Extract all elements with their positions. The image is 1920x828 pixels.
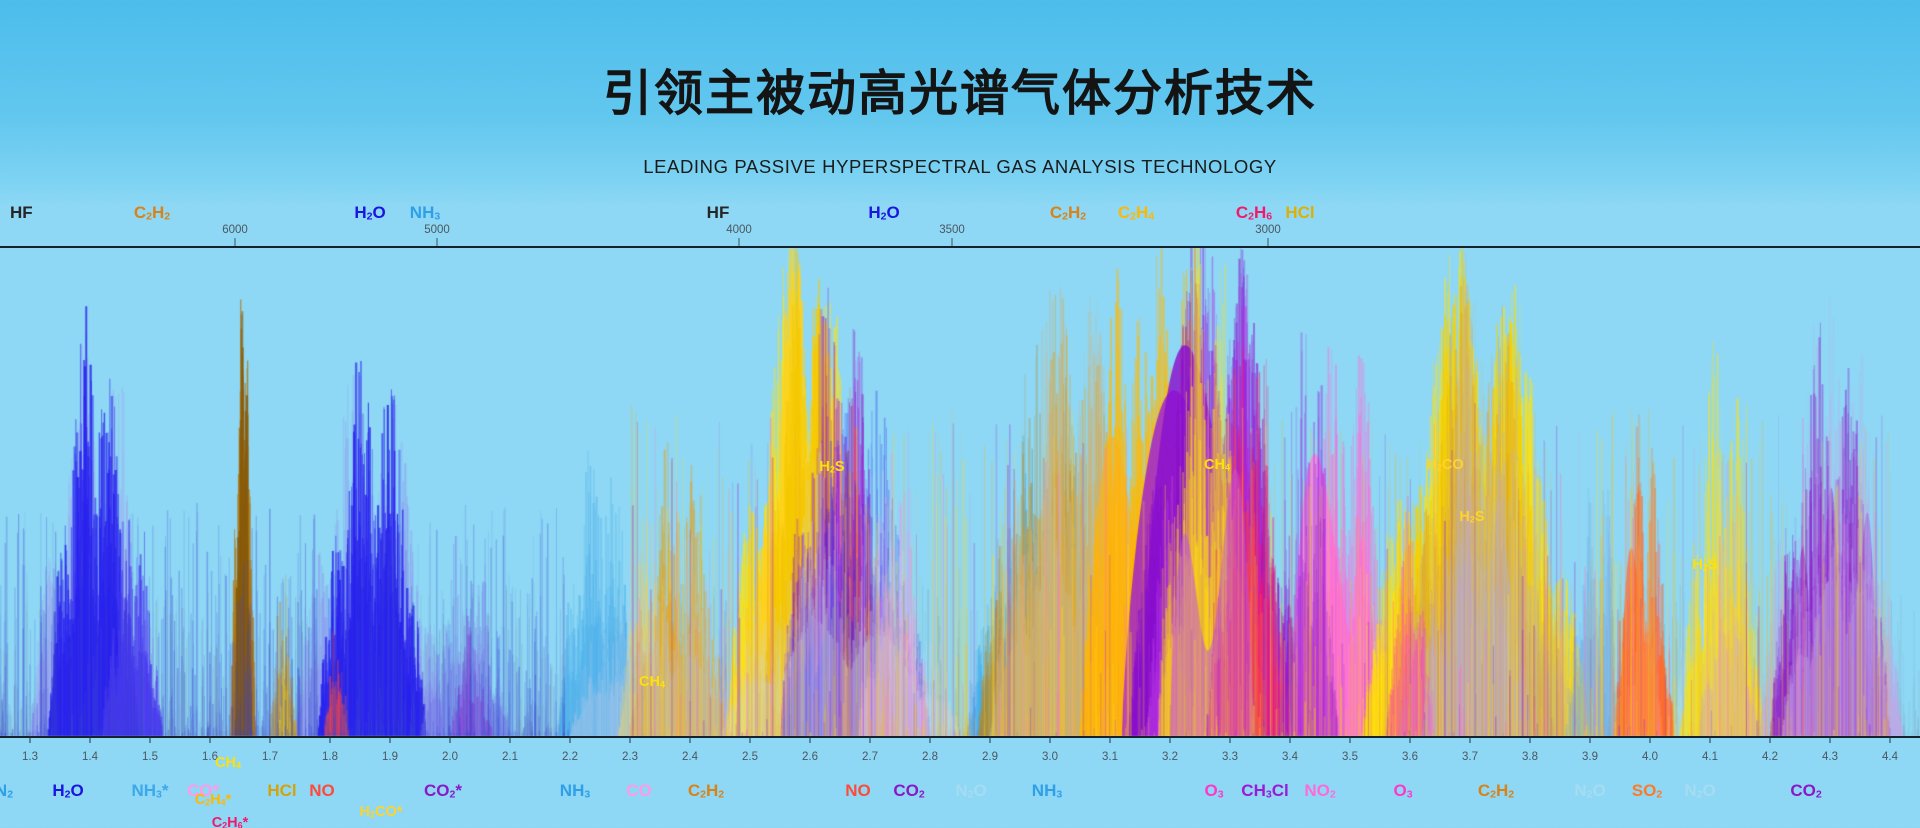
bottom-tick-label: 2.6 bbox=[802, 751, 818, 763]
bottom-tick-mark bbox=[90, 736, 91, 743]
bottom-tick-label: 2.3 bbox=[622, 751, 638, 763]
bottom-tick-label: 3.0 bbox=[1042, 751, 1058, 763]
bottom-tick-label: 4.1 bbox=[1702, 751, 1718, 763]
gas-label-inchart-h2s-9: H2S bbox=[1459, 510, 1484, 525]
bottom-tick-mark bbox=[630, 736, 631, 743]
gas-label-bottom-o3-17: O3 bbox=[1393, 782, 1412, 800]
top-tick-label: 5000 bbox=[424, 224, 450, 236]
gas-label-inchart-h2co-4: H2CO* bbox=[360, 805, 403, 820]
bottom-tick-label: 3.2 bbox=[1162, 751, 1178, 763]
bottom-tick-mark bbox=[1830, 736, 1831, 743]
page-subtitle: LEADING PASSIVE HYPERSPECTRAL GAS ANALYS… bbox=[0, 156, 1920, 178]
bottom-tick-mark bbox=[1170, 736, 1171, 743]
gas-label-bottom-no-10: NO bbox=[845, 782, 871, 799]
top-tick-mark bbox=[437, 238, 438, 246]
bottom-tick-label: 2.2 bbox=[562, 751, 578, 763]
gas-label-top-h2o-5: H2O bbox=[868, 204, 899, 222]
gas-label-inchart-c2h6-2: C2H6* bbox=[212, 816, 249, 828]
spectrum-plot-area bbox=[0, 248, 1920, 828]
gas-label-bottom-nh3-13: NH3 bbox=[1032, 782, 1062, 800]
bottom-tick-label: 3.7 bbox=[1462, 751, 1478, 763]
gas-label-top-h2o-2: H2O bbox=[354, 204, 385, 222]
bottom-tick-label: 1.4 bbox=[82, 751, 98, 763]
bottom-tick-label: 1.7 bbox=[262, 751, 278, 763]
bottom-tick-label: 3.4 bbox=[1282, 751, 1298, 763]
top-tick-label: 6000 bbox=[222, 224, 248, 236]
bottom-tick-mark bbox=[1530, 736, 1531, 743]
bottom-tick-mark bbox=[690, 736, 691, 743]
top-tick-mark bbox=[235, 238, 236, 246]
gas-label-bottom-n2-0: N2 bbox=[0, 782, 13, 800]
page-title: 引领主被动高光谱气体分析技术 bbox=[0, 70, 1920, 119]
bottom-tick-mark bbox=[1110, 736, 1111, 743]
bottom-tick-label: 1.8 bbox=[322, 751, 338, 763]
bottom-tick-label: 2.8 bbox=[922, 751, 938, 763]
gas-label-bottom-n2o-21: N2O bbox=[1684, 782, 1715, 800]
bottom-tick-mark bbox=[750, 736, 751, 743]
gas-label-bottom-c2h2-18: C2H2 bbox=[1478, 782, 1514, 800]
bottom-tick-mark bbox=[1470, 736, 1471, 743]
bottom-tick-label: 2.4 bbox=[682, 751, 698, 763]
gas-label-inchart-ch4-0: CH4 bbox=[215, 756, 241, 771]
gas-label-top-c2h4-7: C2H4 bbox=[1118, 204, 1154, 222]
gas-label-bottom-co2-22: CO2 bbox=[1790, 782, 1821, 800]
gas-label-inchart-h2co-8: H2CO bbox=[1426, 458, 1463, 473]
bottom-tick-mark bbox=[390, 736, 391, 743]
bottom-tick-mark bbox=[1710, 736, 1711, 743]
top-tick-label: 4000 bbox=[726, 224, 752, 236]
bottom-tick-label: 4.3 bbox=[1822, 751, 1838, 763]
bottom-tick-mark bbox=[810, 736, 811, 743]
gas-label-inchart-ch4-7: CH4 bbox=[1204, 458, 1230, 473]
page-header: 引领主被动高光谱气体分析技术 LEADING PASSIVE HYPERSPEC… bbox=[0, 0, 1920, 196]
bottom-tick-mark bbox=[450, 736, 451, 743]
gas-label-bottom-so2-20: SO2 bbox=[1632, 782, 1662, 800]
bottom-tick-label: 1.3 bbox=[22, 751, 38, 763]
bottom-tick-label: 3.9 bbox=[1582, 751, 1598, 763]
top-tick-label: 3500 bbox=[939, 224, 965, 236]
gas-label-top-c2h2-1: C2H2 bbox=[134, 204, 170, 222]
bottom-tick-label: 3.3 bbox=[1222, 751, 1238, 763]
bottom-tick-label: 1.5 bbox=[142, 751, 158, 763]
gas-label-top-nh3-3: NH3 bbox=[410, 204, 440, 222]
bottom-tick-mark bbox=[1890, 736, 1891, 743]
gas-label-top-c2h2-6: C2H2 bbox=[1050, 204, 1086, 222]
gas-label-top-hf-4: HF bbox=[707, 204, 730, 221]
gas-label-bottom-no2-16: NO2 bbox=[1304, 782, 1335, 800]
bottom-tick-mark bbox=[30, 736, 31, 743]
top-tick-mark bbox=[952, 238, 953, 246]
bottom-tick-mark bbox=[1230, 736, 1231, 743]
gas-label-bottom-co2-6: CO2* bbox=[424, 782, 462, 800]
bottom-tick-label: 2.5 bbox=[742, 751, 758, 763]
bottom-tick-label: 2.0 bbox=[442, 751, 458, 763]
gas-label-bottom-h2o-1: H2O bbox=[52, 782, 83, 800]
bottom-tick-mark bbox=[210, 736, 211, 743]
bottom-tick-mark bbox=[1590, 736, 1591, 743]
gas-label-top-hf-0: HF bbox=[10, 204, 33, 221]
bottom-tick-mark bbox=[1770, 736, 1771, 743]
bottom-tick-mark bbox=[1050, 736, 1051, 743]
bottom-tick-label: 4.2 bbox=[1762, 751, 1778, 763]
bottom-tick-mark bbox=[1350, 736, 1351, 743]
bottom-tick-mark bbox=[150, 736, 151, 743]
gas-label-bottom-n2o-19: N2O bbox=[1574, 782, 1605, 800]
bottom-tick-mark bbox=[930, 736, 931, 743]
bottom-tick-label: 2.1 bbox=[502, 751, 518, 763]
bottom-tick-label: 3.8 bbox=[1522, 751, 1538, 763]
bottom-tick-label: 1.9 bbox=[382, 751, 398, 763]
gas-label-inchart-c2h4-1: C2H4* bbox=[195, 793, 232, 808]
bottom-tick-mark bbox=[510, 736, 511, 743]
gas-label-bottom-o3-14: O3 bbox=[1204, 782, 1223, 800]
gas-label-top-c2h6-8: C2H6 bbox=[1236, 204, 1272, 222]
gas-label-inchart-h2s-6: H2S bbox=[819, 460, 844, 475]
bottom-tick-label: 3.6 bbox=[1402, 751, 1418, 763]
gas-label-top-hcl-9: HCl bbox=[1285, 204, 1314, 221]
bottom-tick-mark bbox=[330, 736, 331, 743]
gas-label-bottom-ch3cl-15: CH3Cl bbox=[1241, 782, 1288, 800]
bottom-tick-label: 4.0 bbox=[1642, 751, 1658, 763]
gas-label-bottom-hcl-4: HCl bbox=[267, 782, 296, 799]
top-tick-mark bbox=[1268, 238, 1269, 246]
axis-bottom-line bbox=[0, 736, 1920, 738]
top-tick-label: 3000 bbox=[1255, 224, 1281, 236]
bottom-tick-mark bbox=[990, 736, 991, 743]
bottom-tick-label: 2.7 bbox=[862, 751, 878, 763]
bottom-tick-label: 3.1 bbox=[1102, 751, 1118, 763]
gas-label-bottom-n2o-12: N2O bbox=[955, 782, 986, 800]
bottom-tick-label: 4.4 bbox=[1882, 751, 1898, 763]
gas-label-bottom-co-8: CO bbox=[626, 782, 652, 799]
bottom-tick-mark bbox=[870, 736, 871, 743]
spectrum-canvas bbox=[0, 248, 1920, 828]
gas-label-bottom-nh3-7: NH3 bbox=[560, 782, 590, 800]
gas-label-bottom-no-5: NO bbox=[309, 782, 335, 799]
top-tick-mark bbox=[739, 238, 740, 246]
spectral-chart: 60005000400035003000 1.31.41.51.61.71.81… bbox=[0, 196, 1920, 828]
bottom-tick-label: 3.5 bbox=[1342, 751, 1358, 763]
gas-label-bottom-c2h2-9: C2H2 bbox=[688, 782, 724, 800]
bottom-tick-label: 2.9 bbox=[982, 751, 998, 763]
bottom-tick-mark bbox=[1290, 736, 1291, 743]
gas-label-inchart-h2s-10: H2S bbox=[1692, 558, 1717, 573]
bottom-tick-mark bbox=[1410, 736, 1411, 743]
bottom-tick-mark bbox=[270, 736, 271, 743]
gas-label-bottom-nh3-2: NH3* bbox=[131, 782, 168, 800]
bottom-tick-mark bbox=[1650, 736, 1651, 743]
gas-label-inchart-ch4-5: CH4 bbox=[639, 675, 665, 690]
bottom-tick-mark bbox=[570, 736, 571, 743]
gas-label-bottom-co2-11: CO2 bbox=[893, 782, 924, 800]
